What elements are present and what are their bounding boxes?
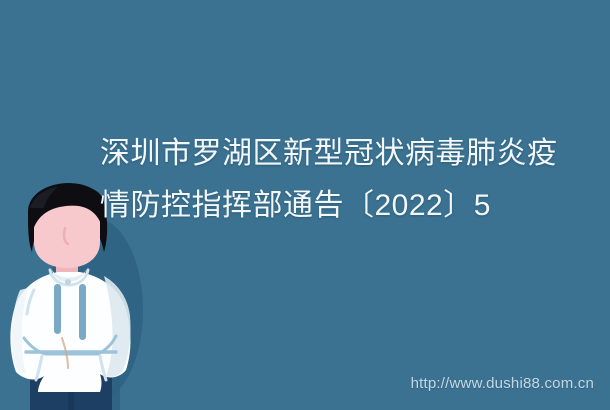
headline-line-2: 情防控指挥部通告〔2022〕5 [100,180,570,232]
drawstring-left [54,284,61,334]
hood-eyelet [65,279,71,285]
headline-line-1: 深圳市罗湖区新型冠状病毒肺炎疫 [100,128,570,180]
watermark-url: http://www.dushi88.com.cn [411,375,594,392]
headline: 深圳市罗湖区新型冠状病毒肺炎疫 情防控指挥部通告〔2022〕5 [100,128,570,232]
drawstring-right [79,284,86,340]
news-cover-banner: 深圳市罗湖区新型冠状病毒肺炎疫 情防控指挥部通告〔2022〕5 http://w… [0,0,610,410]
hoodie-group [10,270,130,392]
